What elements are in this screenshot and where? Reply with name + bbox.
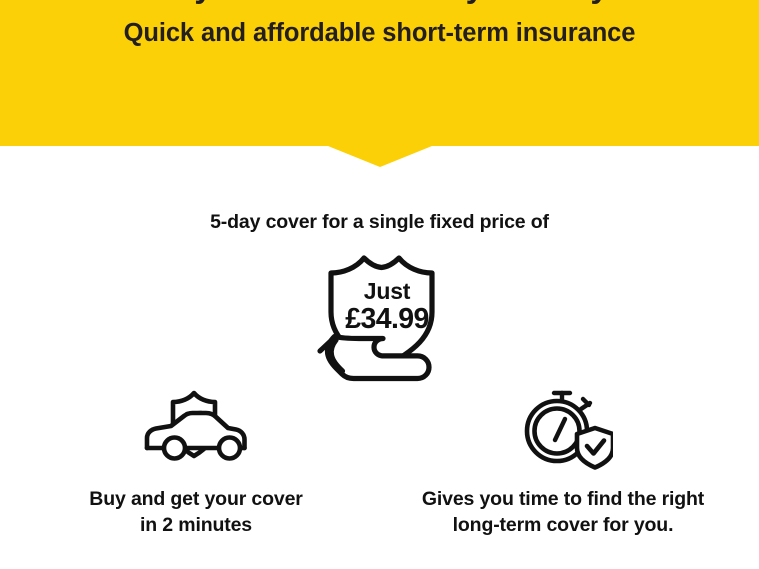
promo-banner: Buy car insurance by the day Quick and a… <box>0 0 759 146</box>
feature-caption-line-2: long-term cover for you. <box>398 512 728 538</box>
price-lead-text: 5-day cover for a single fixed price of <box>0 211 759 234</box>
feature-caption-line-1: Buy and get your cover <box>31 486 361 512</box>
stopwatch-with-shield-check-icon <box>398 380 728 472</box>
shield-outline <box>577 428 613 468</box>
car-with-shield-arrow-icon <box>31 380 361 472</box>
car-wheel-front <box>164 438 185 459</box>
banner-notch-icon <box>328 146 432 167</box>
feature-caption-buy-fast: Buy and get your cover in 2 minutes <box>31 486 361 538</box>
feature-caption-line-1: Gives you time to find the right <box>398 486 728 512</box>
car-wheel-rear <box>219 438 240 459</box>
feature-caption-line-2: in 2 minutes <box>31 512 361 538</box>
stopwatch-side-lever-arm <box>581 403 590 409</box>
shield-in-hand-icon <box>312 250 462 398</box>
feature-caption-time-to-find: Gives you time to find the right long-te… <box>398 486 728 538</box>
banner-headline-clipped: Buy car insurance by the day <box>0 0 759 6</box>
feature-item-buy-fast: Buy and get your cover in 2 minutes <box>31 380 361 538</box>
banner-headline-text: Buy car insurance by the day <box>0 0 759 6</box>
feature-item-time-to-find: Gives you time to find the right long-te… <box>398 380 728 538</box>
banner-subtitle: Quick and affordable short-term insuranc… <box>0 17 759 49</box>
